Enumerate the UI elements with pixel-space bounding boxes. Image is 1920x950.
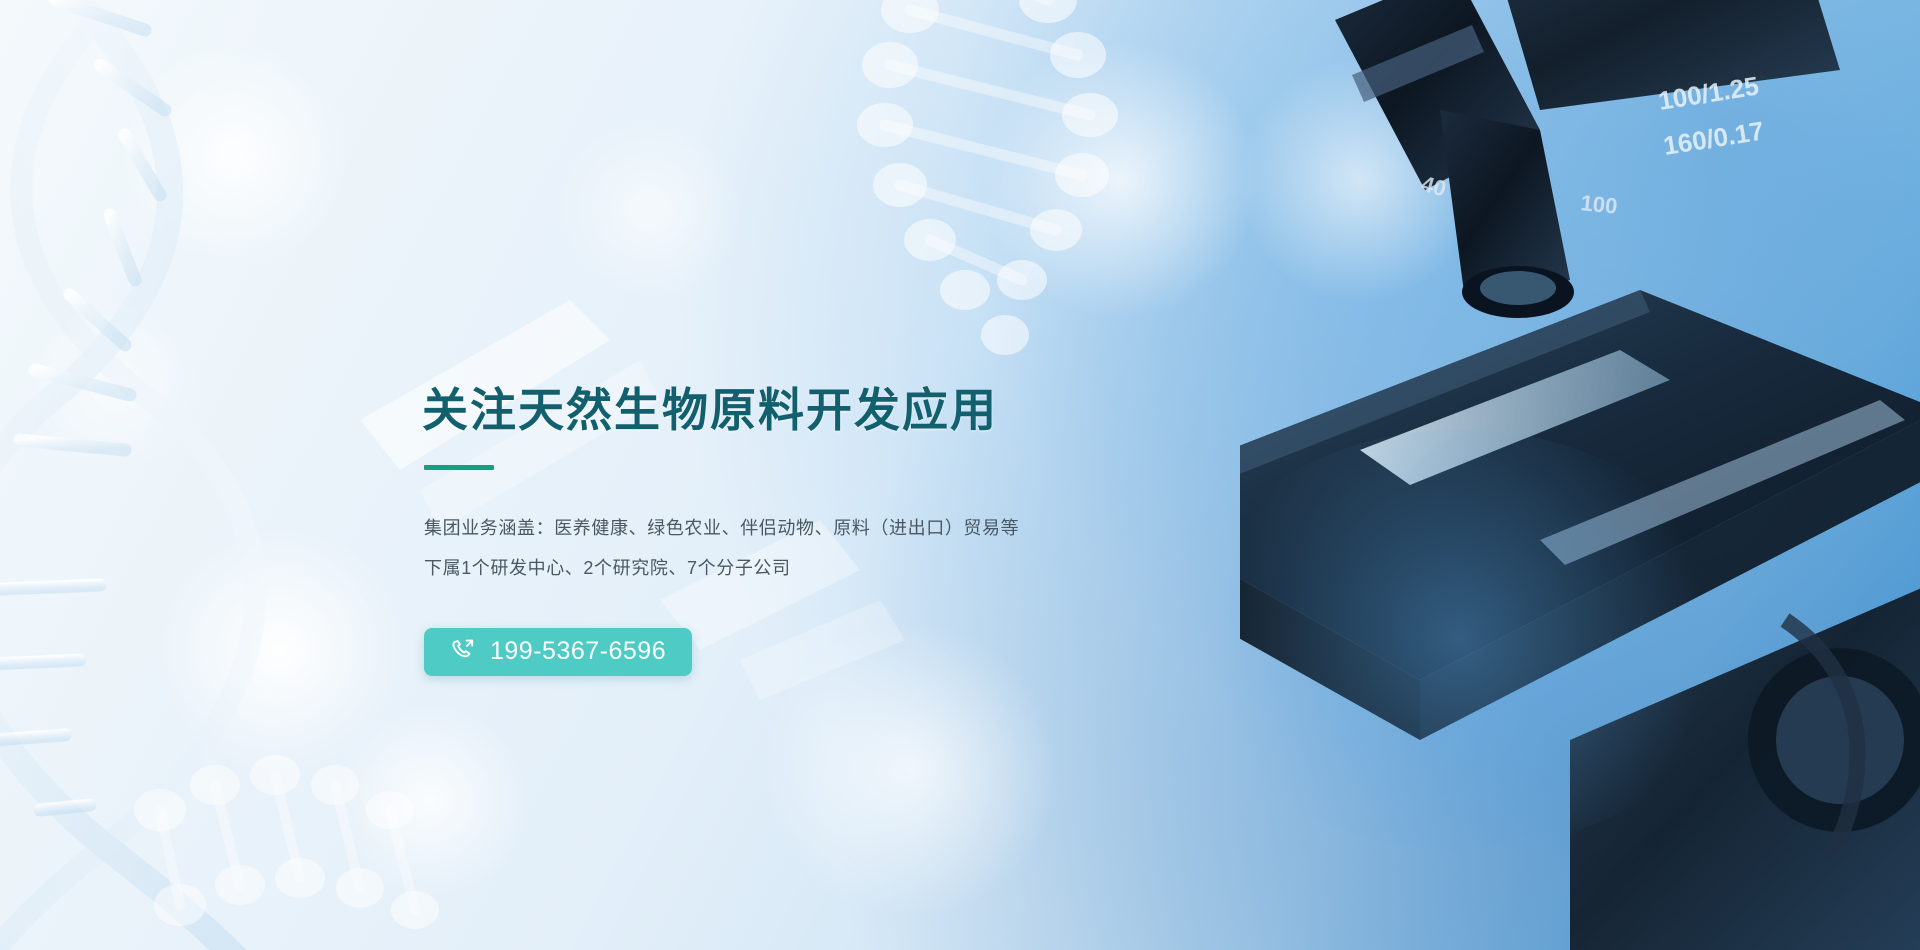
blue-glow [1180,430,1740,850]
bokeh-blob [150,520,410,780]
phone-number-label: 199-5367-6596 [490,637,666,666]
description-line-1: 集团业务涵盖：医养健康、绿色农业、伴侣动物、原料（进出口）贸易等 [424,508,1242,548]
page-title: 关注天然生物原料开发应用 [422,385,1242,437]
bokeh-blob [30,300,200,470]
svg-text:40: 40 [1419,171,1449,202]
dna-helix-lower [120,690,680,950]
svg-text:100: 100 [1579,190,1618,219]
title-accent-bar [424,465,494,470]
description-line-2: 下属1个研发中心、2个研究院、7个分子公司 [424,548,1242,588]
microscope-illustration: 100/1.25 160/0.17 40 100 [1240,0,1920,950]
phone-forward-icon [450,637,476,666]
bokeh-blob [980,40,1260,320]
hero-banner: 100/1.25 160/0.17 40 100 [0,0,1920,950]
svg-text:160/0.17: 160/0.17 [1661,115,1766,160]
svg-text:100/1.25: 100/1.25 [1656,70,1761,115]
hero-description: 集团业务涵盖：医养健康、绿色农业、伴侣动物、原料（进出口）贸易等 下属1个研发中… [424,508,1242,588]
phone-cta-button[interactable]: 199-5367-6596 [424,628,692,676]
bokeh-blob [330,700,530,900]
bokeh-blob [560,120,740,300]
bokeh-blob [120,40,350,270]
bokeh-blob [1240,60,1480,300]
hero-content: 关注天然生物原料开发应用 集团业务涵盖：医养健康、绿色农业、伴侣动物、原料（进出… [422,385,1242,676]
